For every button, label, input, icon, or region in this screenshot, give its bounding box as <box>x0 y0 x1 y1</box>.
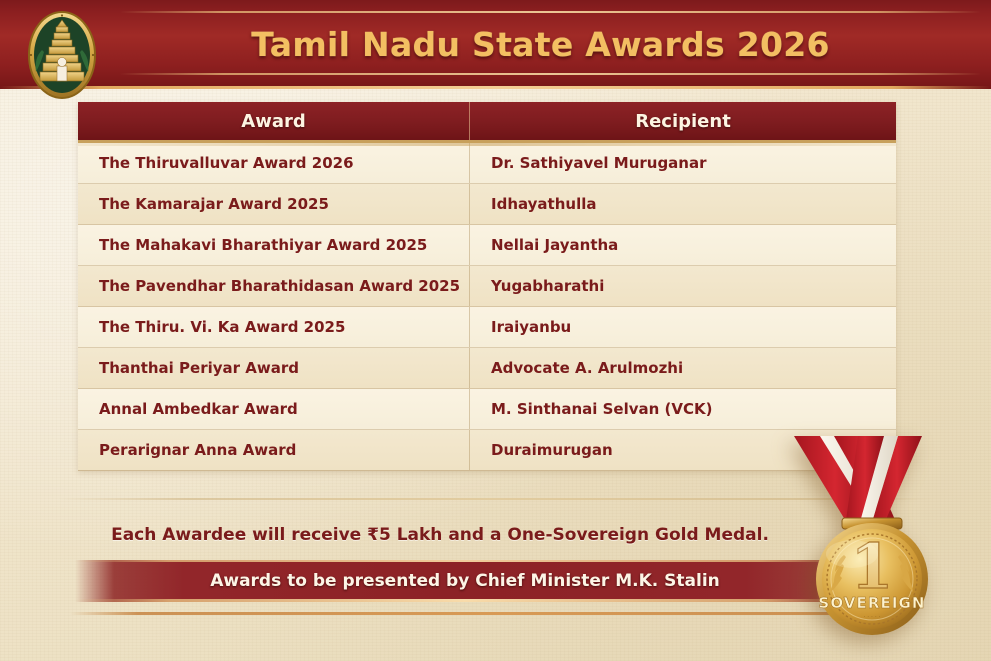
recipient-name-cell: Dr. Sathiyavel Muruganar <box>470 143 896 183</box>
recipient-name-cell: Idhayathulla <box>470 184 896 224</box>
page-header: Tamil Nadu State Awards 2026 <box>0 0 991 89</box>
award-note: Each Awardee will receive ₹5 Lakh and a … <box>60 518 820 552</box>
table-row: The Thiru. Vi. Ka Award 2025Iraiyanbu <box>78 307 896 348</box>
column-header-award: Award <box>78 102 470 140</box>
gold-medal-graphic: 1 SOVEREIGN · · · · · <box>772 436 972 636</box>
award-name-cell: The Thiru. Vi. Ka Award 2025 <box>78 307 470 347</box>
awards-table: Award Recipient The Thiruvalluvar Award … <box>78 102 896 471</box>
table-row: Annal Ambedkar AwardM. Sinthanai Selvan … <box>78 389 896 430</box>
table-body: The Thiruvalluvar Award 2026Dr. Sathiyav… <box>78 143 896 471</box>
recipient-name-cell: M. Sinthanai Selvan (VCK) <box>470 389 896 429</box>
award-name-cell: Perarignar Anna Award <box>78 430 470 470</box>
presenter-banner: Awards to be presented by Chief Minister… <box>75 560 855 602</box>
award-name-cell: The Kamarajar Award 2025 <box>78 184 470 224</box>
award-name-cell: The Pavendhar Bharathidasan Award 2025 <box>78 266 470 306</box>
table-header-row: Award Recipient <box>78 102 896 143</box>
table-row: The Mahakavi Bharathiyar Award 2025Nella… <box>78 225 896 266</box>
medal-ribbon <box>794 436 922 528</box>
recipient-name-cell: Yugabharathi <box>470 266 896 306</box>
medal-subscript: · · · · · <box>863 614 880 621</box>
award-name-cell: Annal Ambedkar Award <box>78 389 470 429</box>
award-name-cell: The Thiruvalluvar Award 2026 <box>78 143 470 183</box>
page-title: Tamil Nadu State Awards 2026 <box>120 0 961 89</box>
award-name-cell: Thanthai Periyar Award <box>78 348 470 388</box>
award-name-cell: The Mahakavi Bharathiyar Award 2025 <box>78 225 470 265</box>
table-row: Thanthai Periyar AwardAdvocate A. Arulmo… <box>78 348 896 389</box>
column-header-recipient: Recipient <box>470 102 896 140</box>
recipient-name-cell: Advocate A. Arulmozhi <box>470 348 896 388</box>
presenter-banner-text: Awards to be presented by Chief Minister… <box>210 571 720 591</box>
table-row: The Pavendhar Bharathidasan Award 2025Yu… <box>78 266 896 307</box>
table-row: The Kamarajar Award 2025Idhayathulla <box>78 184 896 225</box>
medal-label: SOVEREIGN <box>818 594 925 612</box>
state-emblem-icon <box>18 10 106 100</box>
table-row: The Thiruvalluvar Award 2026Dr. Sathiyav… <box>78 143 896 184</box>
recipient-name-cell: Iraiyanbu <box>470 307 896 347</box>
recipient-name-cell: Nellai Jayantha <box>470 225 896 265</box>
